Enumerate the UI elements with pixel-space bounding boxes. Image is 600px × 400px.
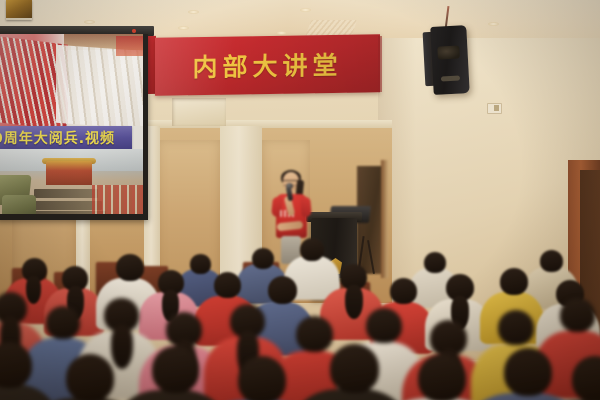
- slide-armored-vehicle: [2, 195, 36, 219]
- wall-recess-panel: [172, 98, 226, 126]
- audience-head: [190, 254, 211, 274]
- wall-speaker: [430, 25, 470, 95]
- slide-red-accent: [116, 36, 143, 56]
- ceiling-downlight: [84, 20, 95, 24]
- speaker-driver: [437, 45, 460, 59]
- audience-head: [152, 346, 199, 393]
- audience-head: [330, 344, 379, 393]
- ceiling-downlight: [188, 10, 199, 14]
- audience-head: [116, 254, 144, 281]
- audience-head: [214, 272, 241, 298]
- slide-white-formation: [56, 45, 143, 126]
- projection-screen: 0周年大阅兵.视频: [0, 34, 148, 220]
- audience-head: [66, 354, 114, 400]
- audience-ponytail: [111, 325, 133, 369]
- audience-head: [252, 248, 274, 269]
- audience-head: [300, 238, 324, 261]
- audience-head: [500, 268, 528, 295]
- ceiling-downlight: [488, 22, 499, 26]
- slide-gate-building: [46, 161, 92, 185]
- slide-vehicle-column: [34, 189, 98, 198]
- slide-title-text: 0周年大阅兵.视频: [0, 128, 115, 148]
- audience-head: [46, 306, 80, 339]
- slide-title-band: 0周年大阅兵.视频: [0, 126, 132, 149]
- speaker-port: [441, 76, 460, 82]
- red-banner: 内部大讲堂: [155, 34, 380, 96]
- lecture-hall-photo: 内部大讲堂 0周年大阅兵.视频: [0, 0, 600, 400]
- audience-ponytail: [345, 285, 363, 319]
- microphone-head: [286, 183, 293, 189]
- ceiling-downlight: [178, 26, 189, 30]
- audience-head: [296, 316, 333, 352]
- audience-ponytail: [26, 276, 41, 304]
- gold-wall-plaque: [6, 0, 32, 20]
- presenter-sleeve-right: [300, 197, 312, 218]
- screen-status-led: [132, 29, 136, 33]
- audience-head: [560, 298, 595, 332]
- audience-head: [498, 310, 534, 345]
- audience-head: [238, 356, 286, 400]
- audience-head: [424, 252, 446, 273]
- audience-head: [268, 276, 297, 304]
- audience-head: [540, 250, 563, 272]
- light-switch[interactable]: [487, 103, 502, 114]
- slide-spectators: [92, 185, 143, 219]
- slide-bottom-photo: [0, 149, 143, 220]
- audience-head: [418, 354, 466, 400]
- banner-right-edge: [378, 36, 382, 92]
- banner-text: 内部大讲堂: [192, 46, 342, 84]
- ceiling-downlight: [300, 8, 311, 12]
- audience-head: [504, 348, 552, 396]
- audience-head: [390, 278, 417, 304]
- ceiling-downlight: [276, 31, 287, 35]
- audience-head: [366, 308, 402, 343]
- audience: [0, 236, 600, 400]
- slide-top-photo: [0, 34, 143, 126]
